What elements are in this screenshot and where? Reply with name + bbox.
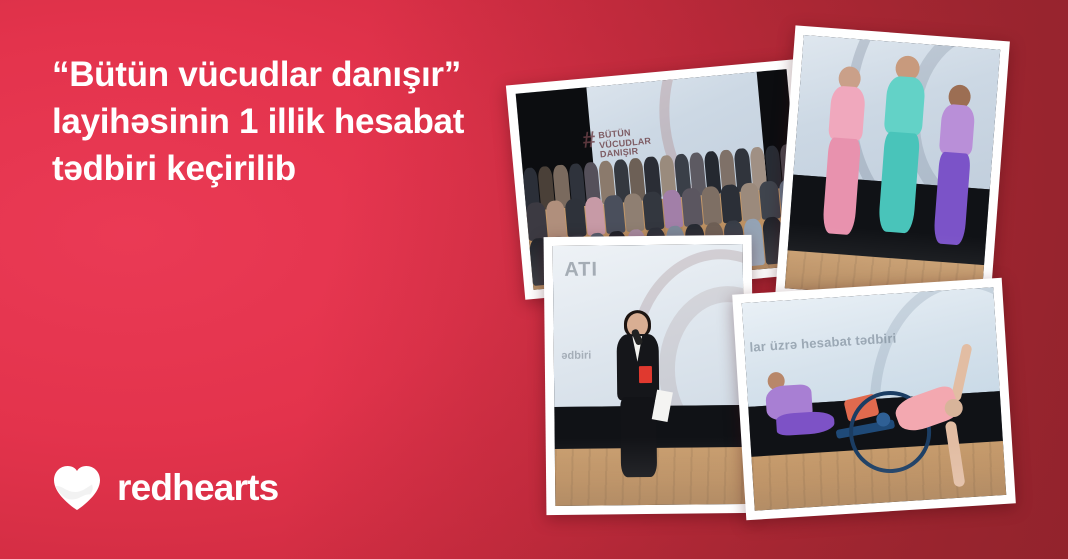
- performer-pink-arched: [886, 342, 995, 485]
- photo-trio-performers: [775, 25, 1010, 312]
- performer-legs: [878, 131, 920, 233]
- performer-torso: [938, 104, 975, 156]
- headline-line-2: layihəsinin 1 illik hesabat: [52, 99, 522, 146]
- performer-legs: [776, 410, 835, 436]
- page-title: “Bütün vücudlar danışır” layihəsinin 1 i…: [52, 52, 522, 193]
- performer-purple-seated: [764, 369, 830, 468]
- performer-legs: [933, 152, 971, 246]
- photo-speaker: ATI ədbiri: [544, 235, 755, 515]
- promo-banner: “Bütün vücudlar danışır” layihəsinin 1 i…: [0, 0, 1068, 559]
- headline-line-1: “Bütün vücudlar danışır”: [52, 52, 522, 99]
- screen-slogan: # BÜTÜN VÜCUDLAR DANIŞIR: [582, 125, 653, 161]
- backdrop-text-bottom: ədbiri: [561, 350, 591, 362]
- headline-line-3: tədbiri keçirilib: [52, 146, 522, 193]
- hashtag-glyph: #: [582, 130, 598, 161]
- redhearts-logo[interactable]: redhearts: [52, 464, 278, 511]
- photo-collage: # BÜTÜN VÜCUDLAR DANIŞIR: [495, 0, 1068, 559]
- performer-torso: [828, 85, 866, 141]
- backdrop-text-top: ATI: [564, 259, 598, 282]
- performer-torso: [884, 75, 926, 136]
- logo-wordmark: redhearts: [117, 469, 278, 506]
- heart-logo-icon: [52, 464, 102, 511]
- speaker-badge: [639, 366, 652, 383]
- performer-leg: [944, 421, 965, 488]
- photo-wheelchair-duet: lar üzrə hesabat tədbiri: [732, 278, 1016, 521]
- performer-legs: [822, 137, 861, 235]
- speaker-figure: [606, 312, 670, 484]
- speaker-trousers: [620, 397, 657, 477]
